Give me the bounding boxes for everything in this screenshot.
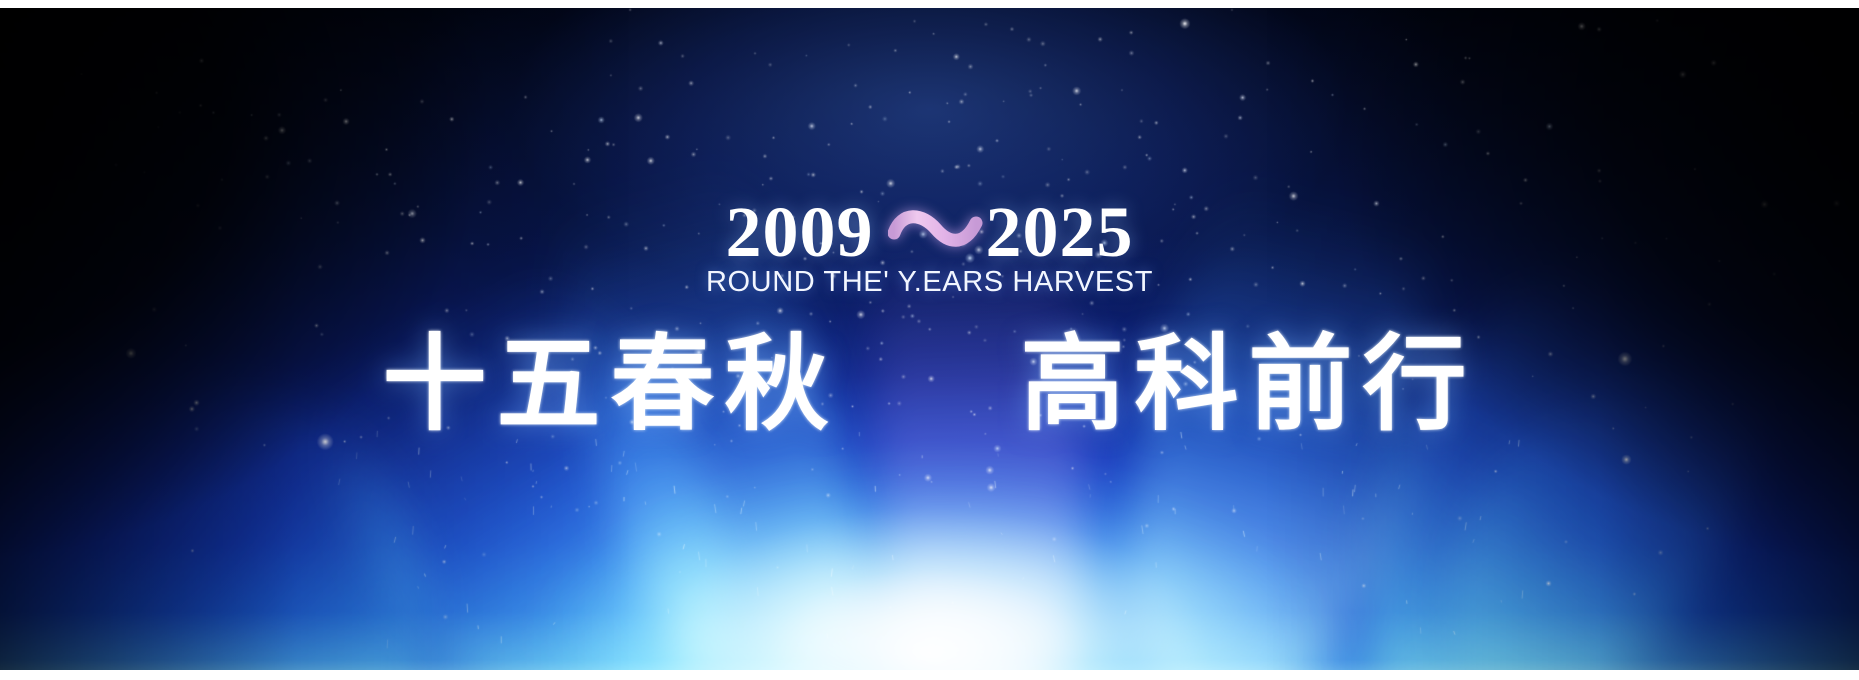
wave-tilde-ribbon-icon: [888, 203, 992, 261]
top-white-trim: [0, 0, 1859, 8]
headline-left-phrase: 十五春秋: [382, 330, 838, 439]
year-range: 2009 2025: [0, 196, 1859, 268]
headline-right-phrase: 高科前行: [1021, 330, 1477, 439]
banner-content: 2009 2025 ROUND THE' Y.EARS HARVEST 十五春秋…: [0, 0, 1859, 680]
year-to: 2025: [986, 196, 1134, 268]
bottom-white-trim: [0, 670, 1859, 680]
anniversary-banner: 2009 2025 ROUND THE' Y.EARS HARVEST 十五春秋…: [0, 0, 1859, 680]
headline-row: 十五春秋 高科前行: [0, 330, 1859, 439]
subtitle-text: ROUND THE' Y.EARS HARVEST: [0, 266, 1859, 299]
